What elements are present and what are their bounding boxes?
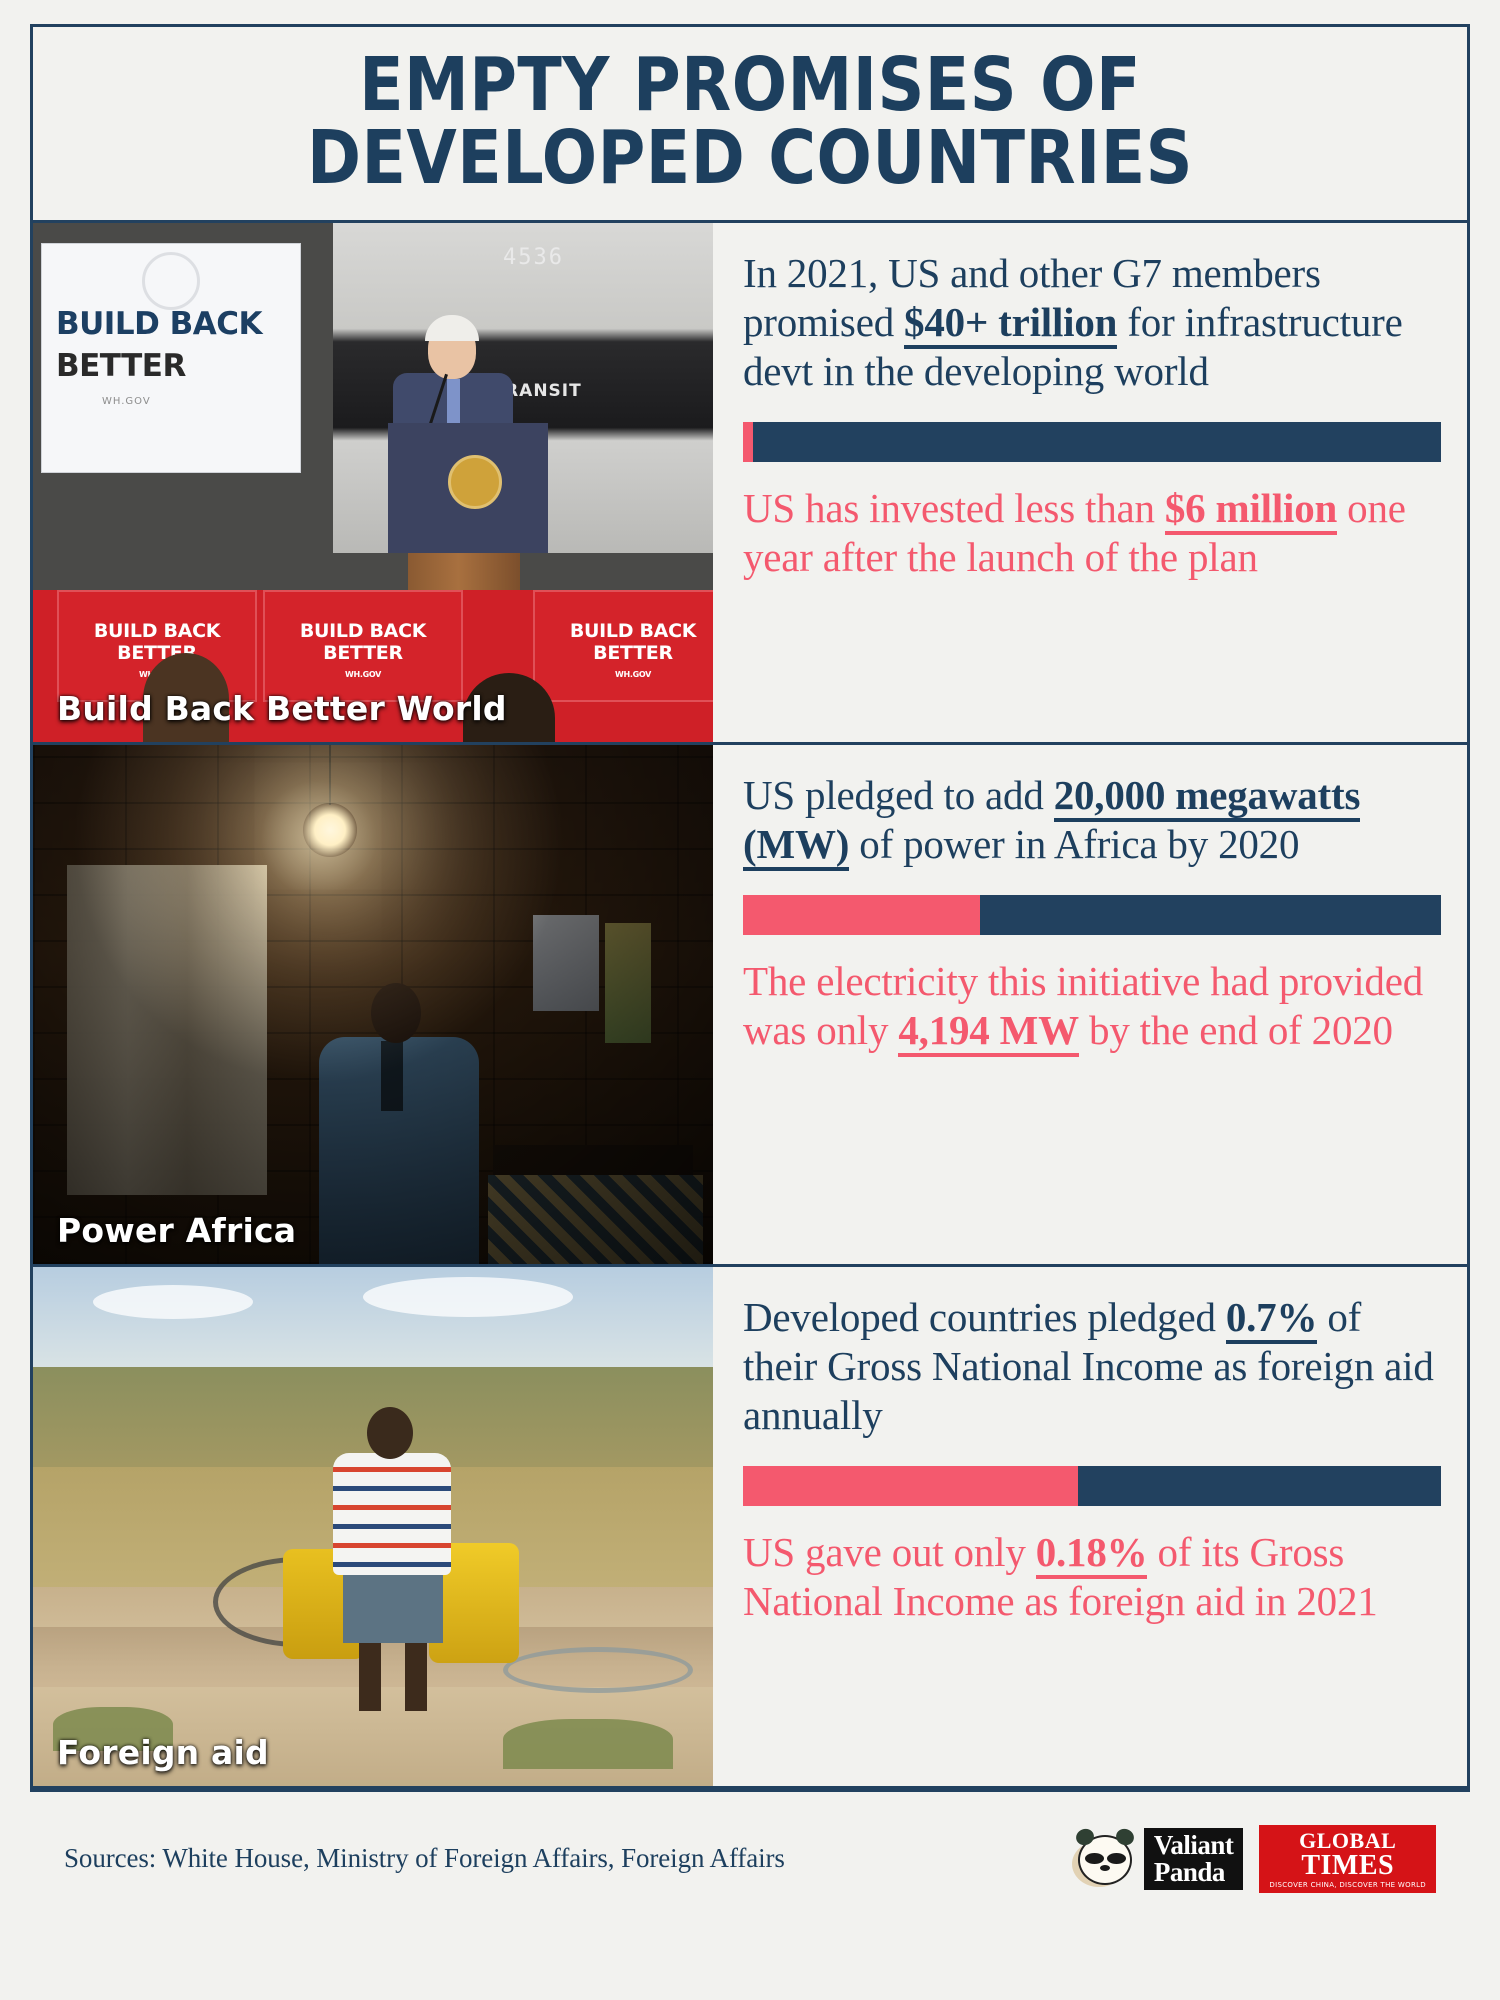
progress-bar-fill-3 [743,1466,1078,1506]
panel-power-africa: Power Africa US pledged to add 20,000 me… [33,745,1467,1267]
reality-statement-3: US gave out only 0.18% of its Gross Nati… [743,1528,1441,1626]
progress-bar-1 [743,422,1441,462]
title-line-2: DEVELOPED COUNTRIES [145,122,1354,195]
promise-statement-2: US pledged to add 20,000 megawatts (MW) … [743,771,1441,869]
times-label: TIMES [1269,1852,1426,1880]
valiant-label: Valiant [1154,1832,1234,1859]
screen-seal-icon [142,252,200,310]
panel-text-1: In 2021, US and other G7 members promise… [713,223,1467,742]
reality-highlight-1: $6 million [1165,485,1337,535]
progress-bar-2 [743,895,1441,935]
sign-left-line2: BETTER [59,642,255,664]
photo-caption-3: Foreign aid [57,1733,269,1772]
photo-art [33,1267,713,1786]
boy-shorts [343,1567,443,1643]
panda-icon [1072,1829,1138,1889]
progress-bar-fill-1 [743,422,753,462]
bus-number-label: 4536 [503,245,564,270]
sign-right-line1: BUILD BACK [535,620,713,642]
panel-build-back-better: 4536 NJ TRANSIT BUILD BACK BETTER WH.GOV [33,223,1467,745]
photo-caption-1: Build Back Better World [57,689,507,728]
cloud-1 [93,1285,253,1319]
photo-art [33,745,713,1264]
promise-statement-3: Developed countries pledged 0.7% of thei… [743,1293,1441,1441]
progress-bar-3 [743,1466,1441,1506]
photo-caption-2: Power Africa [57,1211,296,1250]
screen-line-2: BETTER [56,348,186,384]
progress-bar-fill-2 [743,895,980,935]
photo-foreign-aid: Foreign aid [33,1267,713,1786]
vignette-overlay [33,745,713,1264]
reality-post-2: by the end of 2020 [1079,1007,1393,1053]
sign-center-line3: WH.GOV [265,670,461,679]
page-title: EMPTY PROMISES OF DEVELOPED COUNTRIES [33,27,1467,223]
photo-power-africa: Power Africa [33,745,713,1264]
campaign-sign-center: BUILD BACK BETTER WH.GOV [263,590,463,702]
infographic-page: EMPTY PROMISES OF DEVELOPED COUNTRIES 45… [0,0,1500,2000]
sign-center-line1: BUILD BACK [265,620,461,642]
infographic-frame: EMPTY PROMISES OF DEVELOPED COUNTRIES 45… [30,24,1470,1792]
cloud-2 [363,1277,573,1317]
panel-text-2: US pledged to add 20,000 megawatts (MW) … [713,745,1467,1264]
sign-left-line1: BUILD BACK [59,620,255,642]
reality-statement-1: US has invested less than $6 million one… [743,484,1441,582]
panel-foreign-aid: Foreign aid Developed countries pledged … [33,1267,1467,1789]
footer: Sources: White House, Ministry of Foreig… [30,1792,1470,1902]
boy-shirt [333,1453,451,1575]
panda-eye-right [1107,1853,1126,1864]
valiant-panda-wordmark: Valiant Panda [1144,1828,1244,1890]
promise-pre-2: US pledged to add [743,772,1054,818]
promise-pre-3: Developed countries pledged [743,1294,1226,1340]
panel-text-3: Developed countries pledged 0.7% of thei… [713,1267,1467,1786]
boy-head [367,1407,413,1459]
sign-right-line3: WH.GOV [535,670,713,679]
sign-center-line2: BETTER [265,642,461,664]
promise-highlight-1: $40+ trillion [904,299,1117,349]
presidential-seal-icon [448,455,502,509]
speaker-tie [447,379,460,429]
promise-highlight-3: 0.7% [1226,1294,1317,1344]
panda-eye-left [1085,1853,1104,1864]
global-times-tagline: DISCOVER CHINA, DISCOVER THE WORLD [1269,1882,1426,1889]
global-times-logo[interactable]: GLOBAL TIMES DISCOVER CHINA, DISCOVER TH… [1259,1825,1436,1893]
boy-leg-left [359,1639,381,1711]
photo-build-back-better: 4536 NJ TRANSIT BUILD BACK BETTER WH.GOV [33,223,713,742]
reality-highlight-3: 0.18% [1036,1529,1148,1579]
reality-pre-3: US gave out only [743,1529,1036,1575]
reality-statement-2: The electricity this initiative had prov… [743,957,1441,1055]
screen-line-3: WH.GOV [102,396,151,407]
logo-group: Valiant Panda GLOBAL TIMES DISCOVER CHIN… [1072,1825,1436,1893]
grass-tuft-2 [503,1719,673,1769]
sources-text: Sources: White House, Ministry of Foreig… [64,1843,785,1874]
title-line-1: EMPTY PROMISES OF [145,49,1354,122]
panda-nose [1100,1865,1110,1871]
sign-right-line2: BETTER [535,642,713,664]
hose-shape [503,1647,693,1693]
promise-post-2: of power in Africa by 2020 [849,821,1299,867]
reality-highlight-2: 4,194 MW [898,1007,1079,1057]
promise-statement-1: In 2021, US and other G7 members promise… [743,249,1441,397]
valiant-panda-logo[interactable]: Valiant Panda [1072,1828,1244,1890]
global-label: GLOBAL [1269,1830,1426,1852]
presentation-screen: BUILD BACK BETTER WH.GOV [41,243,301,473]
photo-art: 4536 NJ TRANSIT BUILD BACK BETTER WH.GOV [33,223,713,742]
campaign-sign-right: BUILD BACK BETTER WH.GOV [533,590,713,702]
panda-label: Panda [1154,1859,1234,1886]
screen-line-1: BUILD BACK [56,306,262,342]
boy-leg-right [405,1639,427,1711]
reality-pre-1: US has invested less than [743,485,1165,531]
